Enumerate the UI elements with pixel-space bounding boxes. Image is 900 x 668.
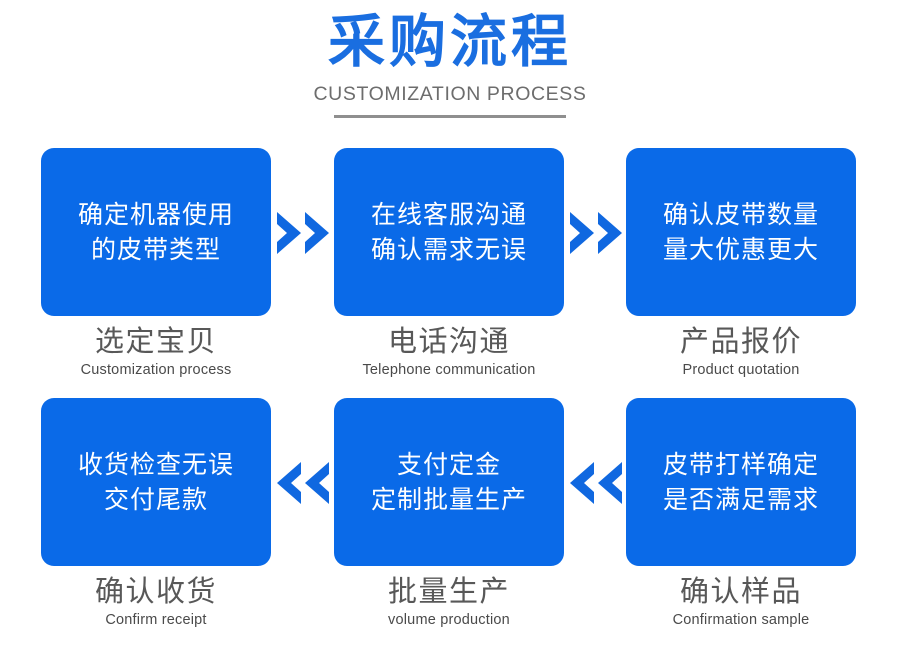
flow-step-1-caption-cn: 选定宝贝 [41,325,271,358]
flow-step-4[interactable]: 皮带打样确定 是否满足需求 确认样品 Confirmation sample [626,398,856,628]
flow-step-3-caption-en: Product quotation [626,362,856,378]
page-header: 采购流程 CUSTOMIZATION PROCESS [0,0,900,118]
flow-step-6-box[interactable]: 收货检查无误 交付尾款 [41,398,271,566]
flow-step-1[interactable]: 确定机器使用 的皮带类型 选定宝贝 Customization process [41,148,271,378]
page-title: 采购流程 [0,14,900,71]
flow-row-top: 确定机器使用 的皮带类型 选定宝贝 Customization process … [0,148,900,398]
double-chevron-right-icon [275,206,335,260]
flow-row-bottom: 收货检查无误 交付尾款 确认收货 Confirm receipt 支付定金 定制… [0,398,900,648]
flow-step-4-caption-en: Confirmation sample [626,612,856,628]
flow-step-2[interactable]: 在线客服沟通 确认需求无误 电话沟通 Telephone communicati… [334,148,564,378]
flow-step-2-caption-cn: 电话沟通 [334,325,564,358]
flow-step-3[interactable]: 确认皮带数量 量大优惠更大 产品报价 Product quotation [626,148,856,378]
flow-step-2-box-line-1: 在线客服沟通 [371,197,527,233]
flow-step-5[interactable]: 支付定金 定制批量生产 批量生产 volume production [334,398,564,628]
flow-step-3-box-line-1: 确认皮带数量 [663,197,819,233]
page-subtitle: CUSTOMIZATION PROCESS [0,83,900,106]
flow-step-6-caption-cn: 确认收货 [41,575,271,608]
flow-step-1-caption-en: Customization process [41,362,271,378]
flow-step-5-box-line-2: 定制批量生产 [371,482,527,518]
flow-step-3-caption-cn: 产品报价 [626,325,856,358]
flow-step-2-box[interactable]: 在线客服沟通 确认需求无误 [334,148,564,316]
flow-step-4-caption-cn: 确认样品 [626,575,856,608]
flow-step-2-box-line-2: 确认需求无误 [371,232,527,268]
double-chevron-left-icon [275,456,335,510]
flow-step-5-caption-en: volume production [334,612,564,628]
flow-step-6[interactable]: 收货检查无误 交付尾款 确认收货 Confirm receipt [41,398,271,628]
flow-step-4-box-line-2: 是否满足需求 [663,482,819,518]
flow-step-3-box-line-2: 量大优惠更大 [663,232,819,268]
flow-step-6-box-line-1: 收货检查无误 [78,447,234,483]
flow-step-6-caption-en: Confirm receipt [41,612,271,628]
double-chevron-left-icon [568,456,628,510]
flow-step-5-box-line-1: 支付定金 [397,447,501,483]
flow-step-6-box-line-2: 交付尾款 [104,482,208,518]
flow-step-1-box[interactable]: 确定机器使用 的皮带类型 [41,148,271,316]
flow-step-2-caption-en: Telephone communication [334,362,564,378]
flow-step-1-box-line-2: 的皮带类型 [91,232,221,268]
flow-step-1-box-line-1: 确定机器使用 [78,197,234,233]
flow-step-5-box[interactable]: 支付定金 定制批量生产 [334,398,564,566]
process-flow-diagram: 确定机器使用 的皮带类型 选定宝贝 Customization process … [0,148,900,648]
flow-step-3-box[interactable]: 确认皮带数量 量大优惠更大 [626,148,856,316]
double-chevron-right-icon [568,206,628,260]
flow-step-4-box[interactable]: 皮带打样确定 是否满足需求 [626,398,856,566]
flow-step-4-box-line-1: 皮带打样确定 [663,447,819,483]
flow-step-5-caption-cn: 批量生产 [334,575,564,608]
title-underline-divider [334,115,566,118]
